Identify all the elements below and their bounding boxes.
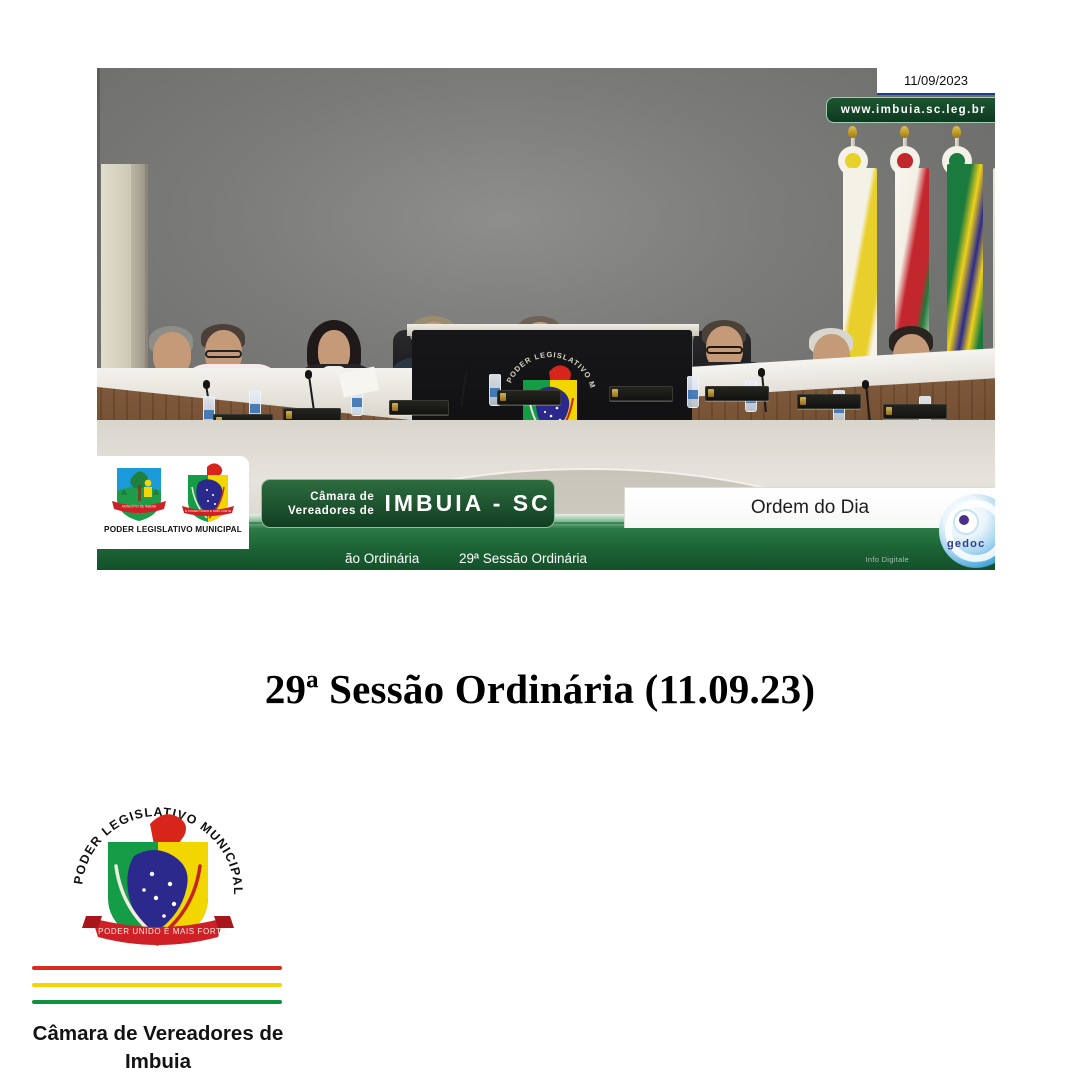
gedoc-core: [959, 515, 969, 525]
subtitle-right: 29ª Sessão Ordinária: [459, 551, 587, 566]
subtitle-left: ão Ordinária: [345, 551, 419, 566]
nameplate-5: [609, 386, 673, 401]
gedoc-label: gedoc: [947, 538, 985, 550]
flag-finial-2: [900, 126, 909, 138]
info-digitale-watermark: Info Digitale: [865, 555, 909, 564]
microphone-head-1: [203, 380, 210, 389]
broadcast-date: 11/09/2023: [877, 68, 995, 95]
gedoc-inner-dot: [953, 509, 979, 535]
flag-finial-3: [952, 126, 961, 138]
nameplate-6: [705, 386, 769, 401]
chamber-name-tag: Câmara de Vereadores de IMBUIA - SC: [261, 479, 555, 528]
overlay-crest-pair: MUNICÍPIO DE IMBUIA O PODER UNIDO É MAIS…: [108, 461, 239, 523]
footer-crest-icon: PODER LEGISLATIVO MUNICIPAL O PODER UNID…: [24, 800, 292, 960]
microphone-head-4: [758, 368, 765, 377]
microphone-head-3: [463, 362, 470, 371]
bar-yellow: [32, 983, 282, 987]
bar-green: [32, 1000, 282, 1004]
chamber-name-lines: Câmara de Vereadores de: [262, 490, 374, 518]
svg-text:O PODER UNIDO É MAIS FORTE: O PODER UNIDO É MAIS FORTE: [184, 508, 230, 513]
microphone-head-2: [305, 370, 312, 379]
ordem-do-dia-label: Ordem do Dia: [751, 497, 869, 519]
municipal-crest-icon: MUNICÍPIO DE IMBUIA: [108, 461, 170, 523]
footer-caption: Câmara de Vereadores de Imbuia: [24, 1020, 292, 1076]
member-2-glasses: [205, 350, 242, 358]
legislative-crest-icon: O PODER UNIDO É MAIS FORTE: [177, 461, 239, 523]
footer-crest-wrap: PODER LEGISLATIVO MUNICIPAL O PODER UNID…: [24, 800, 292, 960]
nameplate-4: [497, 390, 561, 405]
lower-third-subtitles: ão Ordinária 29ª Sessão Ordinária: [97, 546, 995, 570]
flag-finial-1: [848, 126, 857, 138]
chamber-city-label: IMBUIA - SC: [374, 490, 550, 517]
member-6-glasses: [706, 346, 743, 354]
nameplate-7: [797, 394, 861, 409]
tricolor-bars: [32, 966, 282, 1004]
microphone-head-5: [862, 380, 869, 389]
session-video-player[interactable]: PODER LEGISLATIVO MUNICIPAL O PODER UNID…: [97, 68, 995, 570]
rosette-center-1: [845, 153, 861, 169]
overlay-logo-caption: PODER LEGISLATIVO MUNICIPAL: [104, 525, 242, 534]
rosette-center-2: [897, 153, 913, 169]
footer-caption-line-2: Imbuia: [24, 1048, 292, 1076]
website-badge[interactable]: www.imbuia.sc.leg.br: [826, 97, 995, 123]
nameplate-3: [389, 400, 449, 415]
water-bottle-5: [687, 376, 699, 408]
svg-text:MUNICÍPIO DE IMBUIA: MUNICÍPIO DE IMBUIA: [121, 505, 156, 509]
chamber-line-1: Câmara de: [288, 490, 374, 504]
page-title: 29ª Sessão Ordinária (11.09.23): [0, 665, 1080, 713]
nameplate-8: [883, 404, 947, 419]
footer-branding: PODER LEGISLATIVO MUNICIPAL O PODER UNID…: [24, 800, 292, 1076]
svg-text:O PODER UNIDO É MAIS FORTE: O PODER UNIDO É MAIS FORTE: [88, 927, 227, 936]
chamber-line-2: Vereadores de: [288, 504, 374, 518]
wall-seam: [97, 68, 100, 379]
footer-caption-line-1: Câmara de Vereadores de: [24, 1020, 292, 1048]
overlay-logo-box: MUNICÍPIO DE IMBUIA O PODER UNIDO É MAIS…: [97, 456, 249, 549]
bar-red: [32, 966, 282, 970]
